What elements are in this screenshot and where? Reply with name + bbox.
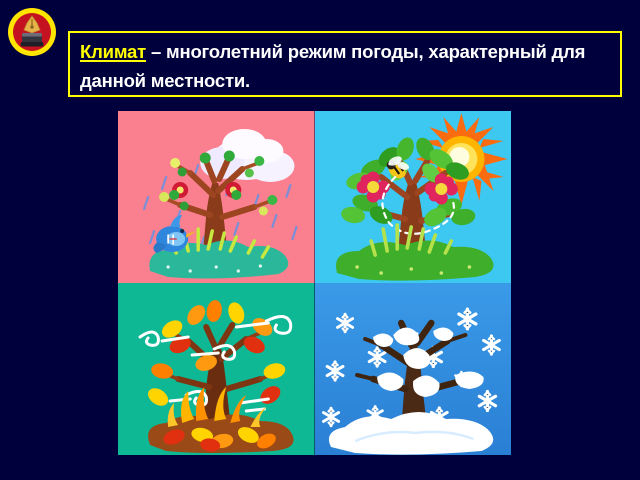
badge-svg [6, 6, 58, 58]
definition-body: – многолетний режим погоды, характерный … [80, 41, 590, 91]
inkwell-foot [21, 42, 44, 47]
spring-panel [118, 111, 315, 283]
autumn-illustration [118, 283, 315, 455]
definition-text: Климат – многолетний режим погоды, харак… [80, 37, 610, 95]
summer-illustration [315, 111, 512, 283]
winter-illustration [315, 283, 512, 455]
spring-illustration [118, 111, 315, 283]
winter-panel [315, 283, 512, 455]
inkwell-quill-badge-icon [6, 6, 58, 58]
four-seasons-grid [118, 111, 511, 455]
definition-textbox: Климат – многолетний режим погоды, харак… [68, 31, 622, 97]
summer-panel [315, 111, 512, 283]
autumn-panel [118, 283, 315, 455]
nib-hole [30, 25, 33, 28]
definition-term: Климат [80, 41, 146, 62]
slide-canvas: Климат – многолетний режим погоды, харак… [0, 0, 640, 480]
inkwell-rim [22, 33, 42, 37]
